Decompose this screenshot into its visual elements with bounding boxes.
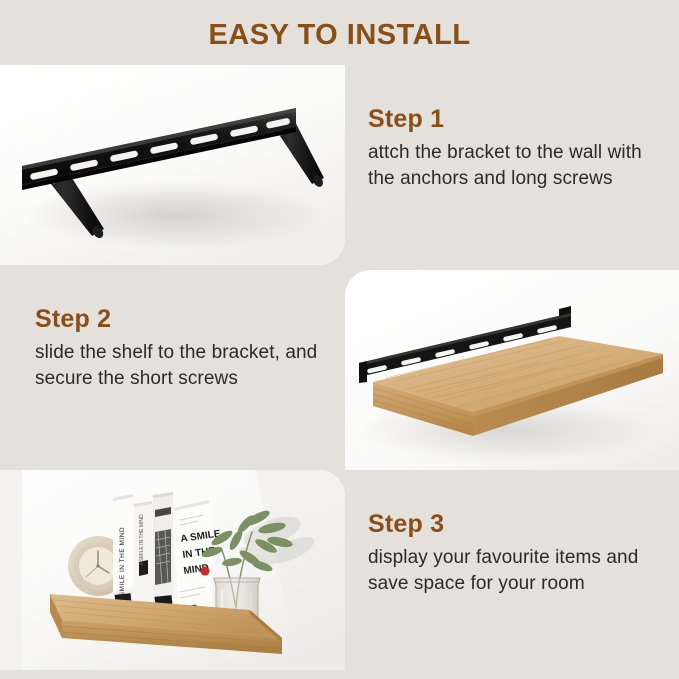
step-1-body: attch the bracket to the wall with the a…	[368, 140, 668, 192]
step-1-text-block: Step 1 attch the bracket to the wall wit…	[368, 104, 668, 192]
book-3	[153, 492, 173, 613]
step-3-text-block: Step 3 display your favourite items and …	[368, 509, 673, 597]
step-2-heading: Step 2	[35, 304, 335, 334]
page-title: EASY TO INSTALL	[0, 17, 679, 53]
book-2: A SMILE IN THE MIND	[134, 501, 152, 609]
step-1-image-panel	[0, 65, 345, 265]
step-3-image-panel: A SMILE IN THE MIND A SMILE IN THE MIND	[0, 470, 345, 670]
step-3-body: display your favourite items and save sp…	[368, 545, 673, 597]
step-1-heading: Step 1	[368, 104, 668, 134]
step-2-image-panel	[345, 270, 679, 470]
book-1: A SMILE IN THE MIND	[113, 494, 133, 608]
step-2-body: slide the shelf to the bracket, and secu…	[35, 340, 335, 392]
step-3-heading: Step 3	[368, 509, 673, 539]
shelf-on-bracket-illustration	[345, 270, 679, 470]
svg-text:A SMILE IN THE MIND: A SMILE IN THE MIND	[139, 514, 145, 566]
svg-text:A SMILE IN THE MIND: A SMILE IN THE MIND	[119, 527, 126, 603]
bracket-illustration	[0, 65, 345, 265]
styled-shelf-illustration: A SMILE IN THE MIND A SMILE IN THE MIND	[0, 470, 345, 670]
step-2-text-block: Step 2 slide the shelf to the bracket, a…	[35, 304, 335, 392]
